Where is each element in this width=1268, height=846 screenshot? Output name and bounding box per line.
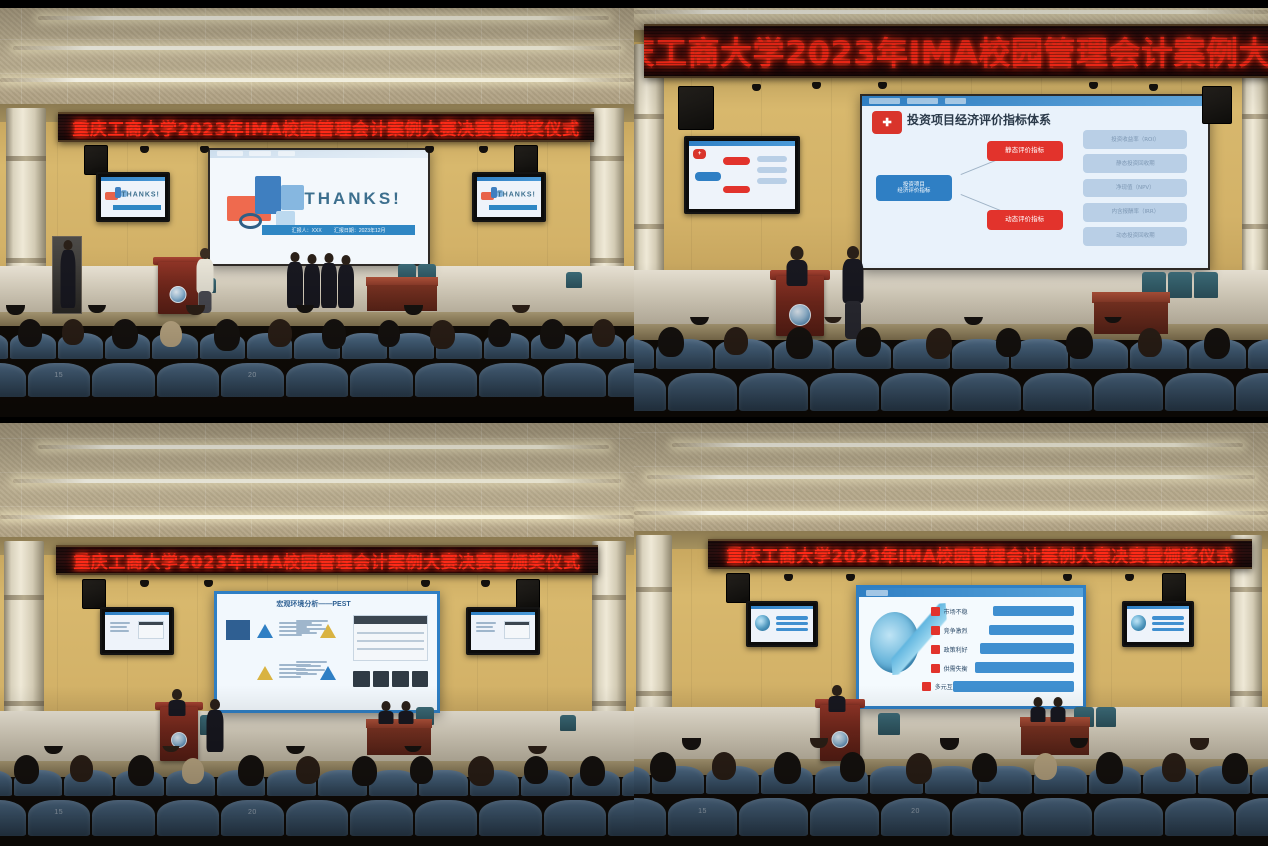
photo-panel-bottom-right: 重庆工商大学2023年IMA校园管理会计案例大赛决赛暨颁奖仪式 (634, 423, 1268, 846)
stage-spotlight (812, 82, 821, 89)
wall-speaker-left (82, 579, 106, 609)
judge-chair (1168, 272, 1192, 298)
person-at-podium (196, 248, 214, 310)
judge (398, 701, 414, 723)
seat (1236, 373, 1268, 411)
led-banner-text: 重庆工商大学2023年IMA校园管理会计案例大赛决赛暨颁奖仪式 (72, 115, 579, 140)
flowchart-leaf: 投资收益率（ROI） (1083, 130, 1187, 149)
photo-panel-top-right: 重庆工商大学2023年IMA校园管理会计案例大赛决 + (634, 0, 1268, 423)
person-in-doorway (60, 240, 76, 310)
stage-spotlight (200, 146, 209, 153)
flowchart-leaf: 静态投资回收期 (1083, 154, 1187, 173)
judge (1030, 697, 1046, 721)
seat: 20 (221, 363, 284, 397)
side-monitor-left (746, 601, 818, 647)
flowchart-leaf: 内含报酬率（IRR） (1083, 203, 1187, 222)
stage-spotlight (204, 580, 213, 587)
seat (634, 766, 650, 794)
seat (479, 800, 542, 836)
seat (92, 800, 155, 836)
stage-spotlight (481, 580, 490, 587)
seat (0, 770, 12, 796)
seat (544, 800, 607, 836)
seat-row (0, 333, 634, 359)
bullet-icon (922, 682, 931, 691)
presenter (337, 255, 354, 308)
slide-pest-title: 宏观环境分析——PEST (276, 599, 350, 609)
slide-flowchart: ✚ 投资项目经济评价指标体系 投资项目 经济评价指标 静态评价指标 动态评价指标… (862, 96, 1208, 268)
seat (810, 798, 879, 836)
seat (0, 333, 8, 359)
seat (626, 333, 634, 359)
side-monitor-right: THANKS! (472, 172, 546, 222)
projection-screen-top-left: THANKS! 汇报人：XXX 汇报日期：2023年12月 (208, 148, 430, 266)
led-banner-bottom-left: 重庆工商大学2023年IMA校园管理会计案例大赛决赛暨颁奖仪式 (56, 545, 598, 575)
flowchart-leaf: 动态投资回收期 (1083, 227, 1187, 246)
bullet-label: 政策利好 (944, 645, 968, 654)
slide-pest: 宏观环境分析——PEST (217, 594, 437, 710)
presenter (286, 252, 303, 308)
seat: 20 (221, 800, 284, 836)
bullet-icon (931, 645, 940, 654)
seat (286, 363, 349, 397)
seat (479, 363, 542, 397)
stage-spotlight (878, 82, 887, 89)
bullet-bar (975, 662, 1074, 673)
wall-speaker-right (1202, 86, 1232, 124)
pest-comparison-table (353, 615, 428, 661)
seat-number: 15 (54, 809, 63, 816)
person-at-podium (828, 685, 846, 711)
seat (1165, 798, 1234, 836)
seat (1094, 373, 1163, 411)
seat: 20 (881, 798, 950, 836)
bullet-icon (931, 664, 940, 673)
audience-seating (634, 317, 1268, 423)
stage-chair (560, 715, 576, 731)
judge-chair (1096, 707, 1116, 727)
letterbox-bar (634, 0, 1268, 8)
seat (1236, 798, 1268, 836)
flowchart-branch-dynamic: 动态评价指标 (987, 210, 1063, 231)
audience-seating: 15 20 (0, 305, 634, 423)
seat (157, 363, 220, 397)
bullet-icon (931, 607, 940, 616)
photo-panel-top-left: 重庆工商大学2023年IMA校园管理会计案例大赛决赛暨颁奖仪式 THANK (0, 0, 634, 423)
ceiling (634, 423, 1268, 535)
seat (668, 373, 737, 411)
seat (952, 373, 1021, 411)
stage-spotlight (846, 574, 855, 581)
seat (739, 798, 808, 836)
led-banner-top-right: 重庆工商大学2023年IMA校园管理会计案例大赛决 (644, 24, 1268, 78)
bullet-icon (931, 626, 940, 635)
seat (1023, 373, 1092, 411)
seat (0, 363, 26, 397)
photo-collage: 重庆工商大学2023年IMA校园管理会计案例大赛决赛暨颁奖仪式 THANK (0, 0, 1268, 846)
stage-spotlight (479, 146, 488, 153)
letterbox-bar (0, 417, 634, 423)
projection-screen-top-right: ✚ 投资项目经济评价指标体系 投资项目 经济评价指标 静态评价指标 动态评价指标… (860, 94, 1210, 270)
letterbox-bar (0, 0, 634, 8)
judge (1050, 697, 1066, 721)
seat (157, 800, 220, 836)
seat (544, 363, 607, 397)
seat (952, 798, 1021, 836)
wall-speaker-left (678, 86, 714, 130)
stage-spotlight (1089, 82, 1098, 89)
monitor-thanks-text: THANKS! (121, 191, 160, 198)
seat (634, 373, 666, 411)
slide-footer-presenter: 汇报人：XXX (292, 227, 322, 234)
seat (92, 363, 155, 397)
seat: 15 (28, 363, 91, 397)
wall-speaker-left (726, 573, 750, 603)
seat-row: 15 20 (0, 800, 634, 836)
person-at-podium (168, 689, 186, 715)
wall-speaker-right (1162, 573, 1186, 603)
side-monitor-left: THANKS! (96, 172, 170, 222)
seat (608, 800, 634, 836)
monitor-thanks-text: THANKS! (497, 191, 536, 198)
seat: 15 (28, 800, 91, 836)
bullet-bar (980, 643, 1074, 654)
seat (739, 373, 808, 411)
bullet-bar (989, 625, 1074, 636)
slide-bullets: 市场不稳 竞争激烈 政策利好 供需失衡 (859, 588, 1083, 706)
university-crest (170, 286, 187, 303)
judge-chair (1194, 272, 1218, 298)
letterbox-bar (634, 417, 1268, 423)
projection-screen-bottom-right: 市场不稳 竞争激烈 政策利好 供需失衡 (856, 585, 1086, 709)
seat (608, 363, 634, 397)
led-banner-text: 重庆工商大学2023年IMA校园管理会计案例大赛决赛暨颁奖仪式 (73, 548, 580, 573)
pest-icon-social (257, 666, 273, 680)
bullet-bar (993, 606, 1074, 617)
slide-thanks-headline: THANKS! (304, 189, 402, 209)
seat (1023, 798, 1092, 836)
stage-spotlight (1063, 574, 1072, 581)
stage-spotlight (1125, 574, 1134, 581)
seat (1248, 339, 1268, 369)
seat (881, 373, 950, 411)
projection-screen-bottom-left: 宏观环境分析——PEST (214, 591, 440, 713)
judge (378, 701, 394, 723)
seat (810, 373, 879, 411)
bullet-label: 供需失衡 (944, 664, 968, 673)
bullet-row: 竞争激烈 (931, 626, 968, 635)
flowchart-root-node: 投资项目 经济评价指标 (876, 175, 952, 201)
seat (415, 800, 478, 836)
seat (622, 770, 634, 796)
side-monitor-right (1122, 601, 1194, 647)
stage-spotlight (425, 146, 434, 153)
seat (634, 339, 654, 369)
stage-spotlight (421, 580, 430, 587)
side-monitor-left (100, 607, 174, 655)
side-monitor-left: + (684, 136, 800, 214)
wall-speaker-right (514, 145, 538, 175)
pest-chip-row (353, 671, 428, 687)
seat (634, 798, 666, 836)
seat (0, 800, 26, 836)
seat (415, 363, 478, 397)
bullet-row: 市场不稳 (931, 607, 968, 616)
seat-row: 15 20 (0, 363, 634, 397)
slide-flowchart-title: 投资项目经济评价指标体系 (907, 111, 1051, 128)
presenter (303, 254, 320, 308)
flowchart-leaf: 净现值（NPV） (1083, 179, 1187, 198)
bullet-bar (953, 681, 1074, 692)
stage-chair (566, 272, 582, 288)
presenter (320, 253, 337, 308)
person-at-podium (786, 246, 808, 286)
bullet-label: 市场不稳 (944, 607, 968, 616)
stage-spotlight (140, 580, 149, 587)
led-banner-top-left: 重庆工商大学2023年IMA校园管理会计案例大赛决赛暨颁奖仪式 (58, 112, 594, 142)
seat (350, 363, 413, 397)
seat-number: 15 (54, 372, 63, 379)
seat-number: 20 (248, 809, 257, 816)
seat: 15 (668, 798, 737, 836)
led-banner-text: 重庆工商大学2023年IMA校园管理会计案例大赛决赛暨颁奖仪式 (726, 542, 1233, 567)
seat-number: 20 (248, 372, 257, 379)
seat (1252, 766, 1268, 794)
bullet-row: 政策利好 (931, 645, 968, 654)
audience-seating: 15 20 (634, 738, 1268, 846)
seat-row: 15 20 (634, 798, 1268, 836)
wall-speaker-right (516, 579, 540, 609)
stage-chair (878, 713, 900, 735)
seat (1165, 373, 1234, 411)
slide-thanks: THANKS! 汇报人：XXX 汇报日期：2023年12月 (210, 150, 428, 264)
seat (350, 800, 413, 836)
led-banner-text: 重庆工商大学2023年IMA校园管理会计案例大赛决 (644, 28, 1268, 74)
led-banner-bottom-right: 重庆工商大学2023年IMA校园管理会计案例大赛决赛暨颁奖仪式 (708, 539, 1252, 569)
seat-row (634, 373, 1268, 411)
seat-number: 15 (698, 808, 707, 815)
slide-badge-icon: ✚ (872, 111, 901, 133)
photo-panel-bottom-left: 重庆工商大学2023年IMA校园管理会计案例大赛决赛暨颁奖仪式 (0, 423, 634, 846)
slide-footer-date: 汇报日期：2023年12月 (334, 227, 386, 234)
bullet-row: 供需失衡 (931, 664, 968, 673)
seat (925, 766, 978, 794)
slide-thanks-footer: 汇报人：XXX 汇报日期：2023年12月 (262, 225, 415, 235)
seat (286, 800, 349, 836)
stage-spotlight (784, 574, 793, 581)
wall-speaker-left (84, 145, 108, 175)
pest-icon-political (257, 624, 273, 638)
seat-number: 20 (911, 808, 920, 815)
audience-seating: 15 20 (0, 746, 634, 846)
stage-spotlight (752, 84, 761, 91)
stage-spotlight (140, 146, 149, 153)
side-monitor-right (466, 607, 540, 655)
flowchart-branch-static: 静态评价指标 (987, 141, 1063, 162)
seat (1094, 798, 1163, 836)
bullet-label: 竞争激烈 (944, 626, 968, 635)
stage-spotlight (1149, 84, 1158, 91)
seated-presenter (206, 699, 224, 753)
